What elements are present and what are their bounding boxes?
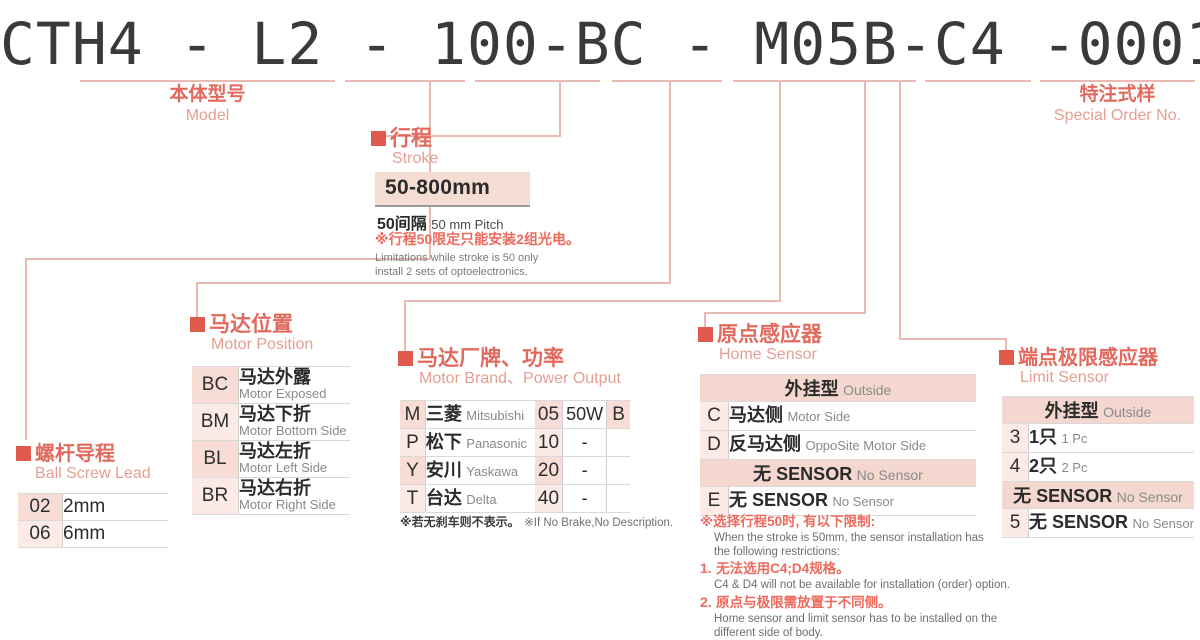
limitsensor-band-nosensor-en: No Sensor (1117, 489, 1183, 505)
motorbrand-powercode-0: 05 (535, 401, 563, 429)
underline-lead (345, 80, 465, 82)
lead-code-0: 02 (18, 494, 63, 521)
lead-desc-0: 2mm (63, 494, 169, 521)
callout-model-cn: 本体型号 (80, 84, 335, 106)
homesensor-desc-1: 反马达侧 OppoSite Motor Side (729, 431, 977, 460)
motorbrand-heading-cn: 马达厂牌、功率 (417, 347, 564, 370)
motorbrand-cn-0: 三菱 (426, 404, 462, 424)
square-bullet-icon (698, 327, 713, 342)
homesensor-desc-e: 无 SENSOR No Sensor (729, 487, 977, 516)
homesensor-code-1: D (700, 431, 729, 460)
table-row[interactable]: 4 2只 2 Pc (1002, 453, 1194, 482)
stroke-note: ※行程50限定只能安装2组光电。 Limitations while strok… (375, 231, 590, 279)
table-row[interactable]: BR 马达右折 Motor Right Side (192, 478, 350, 515)
limitsensor-cn-0: 1只 (1029, 427, 1057, 447)
limitsensor-band-nosensor-cn: 无 SENSOR (1013, 486, 1112, 506)
motorpos-desc-1: 马达下折 Motor Bottom Side (239, 404, 351, 441)
motor-brand-footnote-en: ※If No Brake,No Description. (524, 517, 673, 529)
motorbrand-desc-3: 台达 Delta (425, 485, 535, 513)
motorpos-desc-3: 马达右折 Motor Right Side (239, 478, 351, 515)
motorbrand-brake-1 (607, 429, 630, 457)
limitsensor-heading-cn: 端点极限感应器 (1018, 347, 1158, 369)
limitsensor-desc-5: 无 SENSOR No Sensor (1029, 509, 1195, 538)
home-sensor-footnote-item2-en-1: Home sensor and limit sensor has to be i… (714, 612, 1020, 626)
limitsensor-code-1: 4 (1002, 453, 1029, 482)
motorbrand-power-2: - (563, 457, 607, 485)
callout-special-order-en: Special Order No. (1040, 106, 1195, 127)
homesensor-code-0: C (700, 402, 729, 431)
motorbrand-desc-0: 三菱 Mitsubishi (425, 401, 535, 429)
homesensor-across (704, 312, 866, 314)
section-ball-screw-lead-heading: 螺杆导程 Ball Screw Lead (16, 444, 151, 483)
table-home-sensor: 外挂型 Outside C 马达侧 Motor Side D 反马达侧 Oppo… (700, 374, 976, 516)
motorbrand-code-2: Y (400, 457, 425, 485)
motorbrand-code-3: T (400, 485, 425, 513)
motorpos-drop-2 (196, 282, 198, 318)
motorpos-cn-1: 马达下折 (239, 405, 350, 424)
table-row[interactable]: E 无 SENSOR No Sensor (700, 487, 976, 516)
homesensor-band-outside-cn: 外挂型 (785, 379, 839, 399)
table-band-row: 外挂型 Outside (1002, 397, 1194, 424)
stroke-value: 50-800mm (385, 176, 490, 199)
table-row[interactable]: 06 6mm (18, 521, 168, 548)
motorbrand-drop-2 (404, 300, 406, 352)
limitsensor-band-outside: 外挂型 Outside (1002, 397, 1194, 424)
callout-model: 本体型号 Model (80, 84, 335, 127)
home-sensor-footnote-item1-num: 1. (700, 560, 712, 576)
table-row[interactable]: 02 2mm (18, 494, 168, 521)
home-sensor-footnote-item1: 1. 无法选用C4;D4规格。 (700, 560, 1020, 578)
limitsensor-band-outside-cn: 外挂型 (1045, 401, 1099, 421)
lead-heading-cn-row: 螺杆导程 (16, 444, 151, 465)
limitsensor-drop-1 (899, 80, 901, 338)
model-number: CTH4 - L2 - 100-BC - M05B-C4 -0001 (0, 10, 1200, 78)
limitsensor-band-outside-en: Outside (1103, 404, 1151, 420)
motorbrand-power-0: 50W (563, 401, 607, 429)
motorbrand-en-3: Delta (466, 492, 496, 507)
homesensor-en-0: Motor Side (787, 409, 850, 424)
limitsensor-heading-cn-row: 端点极限感应器 (999, 348, 1158, 369)
home-sensor-footnote-item2-en-2: different side of body. (714, 626, 1020, 640)
homesensor-band-outside-en: Outside (843, 382, 891, 398)
homesensor-en-e: No Sensor (832, 494, 893, 509)
home-sensor-footnote-title-cn: ※选择行程50时, 有以下限制: (700, 513, 1020, 531)
stroke-heading-cn: 行程 (390, 127, 432, 150)
motorpos-code-2: BL (192, 441, 239, 478)
table-row[interactable]: D 反马达侧 OppoSite Motor Side (700, 431, 976, 460)
limitsensor-cn-1: 2只 (1029, 456, 1057, 476)
table-row[interactable]: BC 马达外露 Motor Exposed (192, 367, 350, 404)
motorbrand-power-1: - (563, 429, 607, 457)
lead-heading-en: Ball Screw Lead (35, 465, 151, 483)
table-row[interactable]: BM 马达下折 Motor Bottom Side (192, 404, 350, 441)
home-sensor-footnote-item2-cn: 原点与极限需放置于不同侧。 (716, 595, 892, 610)
motor-brand-footnote-cn: ※若无刹车则不表示。 (400, 515, 520, 529)
motorpos-en-3: Motor Right Side (239, 498, 350, 513)
stroke-heading-en: Stroke (392, 150, 438, 168)
table-motor-brand: M 三菱 Mitsubishi 05 50W B P 松下 Panasonic … (400, 400, 630, 513)
motorbrand-drop-1 (779, 80, 781, 300)
home-sensor-footnote-title-en-1: When the stroke is 50mm, the sensor inst… (714, 531, 1020, 545)
table-ball-screw-lead: 02 2mm 06 6mm (18, 493, 168, 548)
lead-desc-cn-0: 2mm (63, 496, 105, 517)
limitsensor-en-0: 1 Pc (1061, 431, 1087, 446)
homesensor-heading-en: Home Sensor (719, 346, 822, 364)
stroke-note-en-1: Limitations while stroke is 50 only (375, 251, 590, 265)
home-sensor-footnote-title-en-2: the following restrictions: (714, 545, 1020, 559)
motorbrand-code-1: P (400, 429, 425, 457)
motorbrand-powercode-2: 20 (535, 457, 563, 485)
motorpos-cn-2: 马达左折 (239, 442, 350, 461)
motorpos-en-0: Motor Exposed (239, 387, 350, 402)
table-row[interactable]: P 松下 Panasonic 10 - (400, 429, 630, 457)
stroke-heading-cn-row: 行程 (371, 128, 438, 150)
motorbrand-powercode-1: 10 (535, 429, 563, 457)
underline-special-order (1040, 80, 1195, 82)
motorbrand-en-1: Panasonic (466, 436, 527, 451)
motor-brand-footnote: ※若无刹车则不表示。 ※If No Brake,No Description. (400, 513, 673, 531)
motorbrand-desc-2: 安川 Yaskawa (425, 457, 535, 485)
table-row[interactable]: BL 马达左折 Motor Left Side (192, 441, 350, 478)
homesensor-band-nosensor: 无 SENSOR No Sensor (700, 460, 976, 487)
home-sensor-footnote-item2: 2. 原点与极限需放置于不同侧。 (700, 594, 1020, 612)
motorbrand-en-0: Mitsubishi (466, 408, 524, 423)
motorpos-en-2: Motor Left Side (239, 461, 350, 476)
home-sensor-footnote-item1-en: C4 & D4 will not be available for instal… (714, 578, 1020, 592)
motorbrand-brake-2 (607, 457, 630, 485)
lead-desc-cn-1: 6mm (63, 523, 105, 544)
motorpos-drop-1 (669, 80, 671, 282)
lead-desc-1: 6mm (63, 521, 169, 548)
table-row[interactable]: 3 1只 1 Pc (1002, 424, 1194, 453)
limitsensor-cn-5: 无 SENSOR (1029, 512, 1128, 532)
home-sensor-footnote-item1-cn: 无法选用C4;D4规格。 (716, 561, 850, 576)
motorpos-heading-cn: 马达位置 (209, 313, 293, 336)
square-bullet-icon (371, 131, 386, 146)
table-row[interactable]: Y 安川 Yaskawa 20 - (400, 457, 630, 485)
lead-heading-cn: 螺杆导程 (35, 443, 115, 465)
underline-motor-brand (733, 80, 916, 82)
limitsensor-code-0: 3 (1002, 424, 1029, 453)
homesensor-band-nosensor-cn: 无 SENSOR (753, 464, 852, 484)
table-limit-sensor: 外挂型 Outside 3 1只 1 Pc 4 2只 2 Pc 无 SENSOR… (1002, 396, 1194, 538)
table-row[interactable]: 5 无 SENSOR No Sensor (1002, 509, 1194, 538)
stroke-note-en-2: install 2 sets of optoelectronics. (375, 265, 590, 279)
square-bullet-icon (999, 350, 1014, 365)
square-bullet-icon (398, 351, 413, 366)
callout-special-order-cn: 特注式样 (1040, 84, 1195, 106)
limitsensor-heading-en: Limit Sensor (1020, 369, 1158, 387)
section-motor-brand-heading: 马达厂牌、功率 Motor Brand、Power Output (398, 348, 621, 388)
home-sensor-footnote-item2-num: 2. (700, 594, 712, 610)
motorpos-code-0: BC (192, 367, 239, 404)
limitsensor-band-nosensor: 无 SENSOR No Sensor (1002, 482, 1194, 509)
stroke-pitch-en: 50 mm Pitch (431, 217, 503, 232)
motorbrand-powercode-3: 40 (535, 485, 563, 513)
motorpos-desc-2: 马达左折 Motor Left Side (239, 441, 351, 478)
lead-across (25, 258, 431, 260)
motorpos-code-3: BR (192, 478, 239, 515)
motorbrand-brake-3 (607, 485, 630, 513)
underline-model (80, 80, 335, 82)
table-motor-position: BC 马达外露 Motor Exposed BM 马达下折 Motor Bott… (192, 366, 350, 515)
table-row[interactable]: M 三菱 Mitsubishi 05 50W B (400, 401, 630, 429)
callout-special-order: 特注式样 Special Order No. (1040, 84, 1195, 127)
motorbrand-cn-2: 安川 (426, 460, 462, 480)
motorbrand-cn-1: 松下 (426, 432, 462, 452)
motorpos-cn-0: 马达外露 (239, 368, 350, 387)
motorbrand-brake-0: B (607, 401, 630, 429)
motorbrand-cn-3: 台达 (426, 488, 462, 508)
motorpos-heading-en: Motor Position (211, 336, 313, 354)
stroke-drop-1 (559, 80, 561, 137)
homesensor-heading-cn: 原点感应器 (717, 323, 822, 346)
underline-sensors (925, 80, 1031, 82)
homesensor-code-e: E (700, 487, 729, 516)
homesensor-band-outside: 外挂型 Outside (700, 375, 976, 402)
homesensor-cn-0: 马达侧 (729, 405, 783, 425)
homesensor-band-nosensor-en: No Sensor (857, 467, 923, 483)
stroke-value-box: 50-800mm (375, 172, 530, 207)
limitsensor-across (899, 338, 1007, 340)
limitsensor-desc-1: 2只 2 Pc (1029, 453, 1195, 482)
motorbrand-heading-cn-row: 马达厂牌、功率 (398, 348, 621, 370)
table-band-row: 外挂型 Outside (700, 375, 976, 402)
section-stroke-heading: 行程 Stroke (371, 128, 438, 168)
homesensor-drop-1 (864, 80, 866, 312)
limitsensor-en-5: No Sensor (1132, 516, 1193, 531)
limitsensor-code-5: 5 (1002, 509, 1029, 538)
homesensor-desc-0: 马达侧 Motor Side (729, 402, 977, 431)
section-limit-sensor-heading: 端点极限感应器 Limit Sensor (999, 348, 1158, 387)
motorpos-en-1: Motor Bottom Side (239, 424, 350, 439)
motorbrand-heading-en: Motor Brand、Power Output (419, 370, 621, 388)
table-row[interactable]: C 马达侧 Motor Side (700, 402, 976, 431)
section-motor-position-heading: 马达位置 Motor Position (190, 314, 313, 354)
motorpos-code-1: BM (192, 404, 239, 441)
underline-stroke (475, 80, 600, 82)
motorbrand-power-3: - (563, 485, 607, 513)
square-bullet-icon (190, 317, 205, 332)
stroke-note-cn: ※行程50限定只能安装2组光电。 (375, 231, 590, 249)
callout-model-en: Model (80, 106, 335, 127)
homesensor-cn-1: 反马达侧 (729, 434, 801, 454)
section-home-sensor-heading: 原点感应器 Home Sensor (698, 324, 822, 364)
motorpos-heading-cn-row: 马达位置 (190, 314, 313, 336)
home-sensor-footnote: ※选择行程50时, 有以下限制: When the stroke is 50mm… (700, 513, 1020, 640)
table-band-row: 无 SENSOR No Sensor (700, 460, 976, 487)
table-band-row: 无 SENSOR No Sensor (1002, 482, 1194, 509)
motorbrand-desc-1: 松下 Panasonic (425, 429, 535, 457)
limitsensor-desc-0: 1只 1 Pc (1029, 424, 1195, 453)
motorbrand-code-0: M (400, 401, 425, 429)
table-row[interactable]: T 台达 Delta 40 - (400, 485, 630, 513)
motorpos-cn-3: 马达右折 (239, 479, 350, 498)
lead-drop-2 (25, 258, 27, 440)
limitsensor-en-1: 2 Pc (1061, 460, 1087, 475)
square-bullet-icon (16, 446, 31, 461)
motorbrand-en-2: Yaskawa (466, 464, 518, 479)
motorbrand-across (404, 300, 781, 302)
underline-motor-pos (612, 80, 722, 82)
homesensor-en-1: OppoSite Motor Side (805, 438, 926, 453)
homesensor-cn-e: 无 SENSOR (729, 490, 828, 510)
homesensor-heading-cn-row: 原点感应器 (698, 324, 822, 346)
motorpos-across (196, 282, 671, 284)
lead-code-1: 06 (18, 521, 63, 548)
motorpos-desc-0: 马达外露 Motor Exposed (239, 367, 351, 404)
